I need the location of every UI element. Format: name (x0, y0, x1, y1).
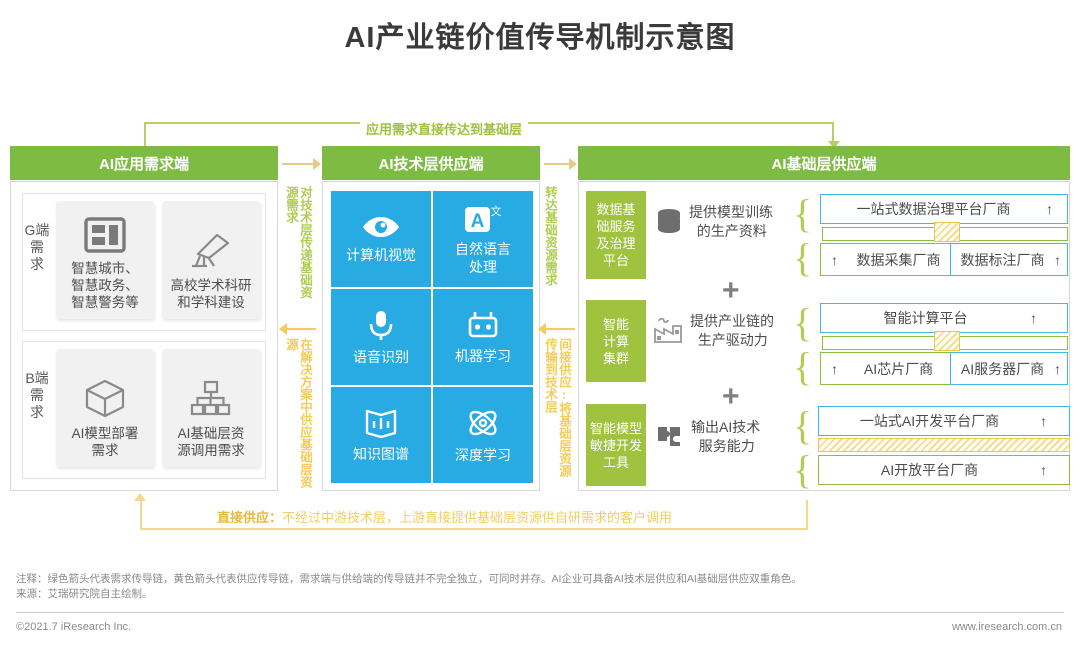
vendor-label: AI开放平台厂商 (819, 460, 1040, 480)
base-group-desc-text: 提供产业链的 生产驱动力 (690, 312, 774, 350)
vendor-box-data-governance-platform[interactable]: 一站式数据治理平台厂商 ↑ (820, 194, 1068, 224)
up-arrow-icon: ↑ (1054, 252, 1061, 268)
brace-icon: { (793, 303, 812, 343)
telescope-icon (187, 228, 235, 272)
top-flow-label: 应用需求直接传达到基础层 (360, 119, 528, 138)
header-tech-layer: AI技术层供应端 (322, 146, 540, 180)
plus-separator-2: + (722, 382, 740, 412)
footer-divider (16, 612, 1064, 613)
tech-card-caption: 深度学习 (455, 446, 511, 464)
connector-col2-bottom-label: 间接供应:将基础层资源传输到技术层 (543, 338, 571, 488)
up-arrow-icon: ↑ (1040, 413, 1047, 429)
connector-col1-arrow-icon (286, 328, 316, 330)
demand-group-b-tag: B端需求 (24, 370, 50, 421)
tech-card-deep-learning[interactable]: 深度学习 (433, 387, 533, 483)
tech-card-knowledge-graph[interactable]: 知识图谱 (331, 387, 431, 483)
demand-card-caption: AI模型部署需求 (72, 425, 139, 459)
vendor-label: AI芯片厂商 (838, 359, 959, 379)
overlap-hatch-3 (818, 438, 1070, 452)
brace-icon: { (793, 406, 812, 446)
tech-card-speech-recognition[interactable]: 语音识别 (331, 289, 431, 385)
tech-card-caption: 语音识别 (353, 348, 409, 366)
vendor-box-ai-open-platform[interactable]: AI开放平台厂商 ↑ (818, 455, 1070, 485)
demand-card-base-resource-call[interactable]: AI基础层资源调用需求 (162, 349, 260, 467)
vendor-box-intelligent-compute-platform[interactable]: 智能计算平台 ↑ (820, 303, 1068, 333)
footnote-line-2: 来源：艾瑞研究院自主绘制。 (16, 587, 1066, 602)
base-group-desc-3: 输出AI技术 服务能力 (655, 418, 760, 456)
vendor-box-ai-server[interactable]: AI服务器厂商 ↑ (950, 352, 1068, 385)
page-title: AI产业链价值传导机制示意图 (0, 14, 1080, 56)
overlap-hatch-2 (934, 331, 960, 351)
cube-icon (81, 376, 129, 420)
base-group-desc-text: 提供模型训练 的生产资料 (689, 203, 773, 241)
base-group-label-model-dev-tools: 智能模型敏捷开发工具 (586, 404, 646, 486)
vendor-label: 一站式数据治理平台厂商 (821, 199, 1046, 219)
footnote: 注释：绿色箭头代表需求传导链，黄色箭头代表供应传导链，需求端与供给端的传导链并不… (16, 572, 1066, 602)
database-icon (655, 207, 683, 237)
tech-card-caption: 自然语言处理 (455, 240, 511, 276)
vendor-label: 智能计算平台 (821, 308, 1030, 328)
connector-col2-top-label: 转达基础资源需求 (543, 186, 557, 306)
base-group-label-data-platform: 数据基础服务及治理平台 (586, 191, 646, 279)
up-arrow-icon: ↑ (1040, 462, 1047, 478)
up-arrow-icon: ↑ (1030, 310, 1037, 326)
bottom-flow-label-bold: 直接供应： (217, 510, 282, 525)
up-arrow-icon: ↑ (1046, 201, 1053, 217)
arrow-demand-to-tech-icon (282, 163, 314, 165)
eye-icon (361, 214, 401, 240)
overlap-hatch-1 (934, 222, 960, 242)
demand-card-caption: 智慧城市、智慧政务、智慧警务等 (71, 260, 139, 311)
infographic-page: AI产业链价值传导机制示意图 应用需求直接传达到基础层 AI应用需求端 AI技术… (0, 0, 1080, 651)
vendor-box-data-annotation[interactable]: 数据标注厂商 ↑ (950, 243, 1068, 276)
tech-card-caption: 机器学习 (455, 347, 511, 365)
brace-icon: { (793, 347, 812, 387)
vendor-label: AI服务器厂商 (951, 359, 1054, 379)
connector-col2-arrow-icon (545, 328, 575, 330)
connector-col1-bottom-label: 在解决方案中供应基础层资源 (284, 338, 312, 488)
hierarchy-icon (187, 376, 235, 420)
book-icon (363, 407, 399, 439)
vendor-label: 数据采集厂商 (838, 250, 959, 270)
header-base-layer: AI基础层供应端 (578, 146, 1070, 180)
tech-card-computer-vision[interactable]: 计算机视觉 (331, 191, 431, 287)
header-demand-side: AI应用需求端 (10, 146, 278, 180)
vendor-box-ai-chip[interactable]: ↑ AI芯片厂商 (820, 352, 960, 385)
demand-group-g-tag: G端需求 (24, 222, 50, 273)
arrow-tech-to-base-icon (544, 163, 570, 165)
tech-card-nlp[interactable]: A 文 自然语言处理 (433, 191, 533, 287)
brace-icon: { (793, 450, 812, 490)
demand-card-caption: AI基础层资源调用需求 (177, 425, 245, 459)
demand-card-model-deploy[interactable]: AI模型部署需求 (56, 349, 154, 467)
bottom-flow-label-rest: 不经过中游技术层，上游直接提供基础层资源供自研需求的客户调用 (282, 510, 672, 525)
connector-col1-top-label: 对技术层传递基础资源需求 (284, 186, 312, 306)
base-group-label-compute-cluster: 智能计算集群 (586, 300, 646, 382)
base-group-desc-2: 提供产业链的 生产驱动力 (652, 312, 774, 350)
brace-icon: { (793, 194, 812, 234)
plus-separator-1: + (722, 276, 740, 306)
up-arrow-icon: ↑ (831, 252, 838, 268)
brace-icon: { (793, 238, 812, 278)
vendor-label: 数据标注厂商 (951, 250, 1054, 270)
factory-icon (652, 316, 684, 346)
dashboard-icon (83, 215, 127, 255)
copyright-text: ©2021.7 iResearch Inc. (16, 621, 131, 633)
demand-card-smart-city[interactable]: 智慧城市、智慧政务、智慧警务等 (56, 201, 154, 319)
website-link[interactable]: www.iresearch.com.cn (952, 621, 1062, 633)
demand-card-caption: 高校学术科研和学科建设 (171, 277, 252, 311)
base-group-desc-text: 输出AI技术 服务能力 (691, 418, 760, 456)
footnote-line-1: 注释：绿色箭头代表需求传导链，黄色箭头代表供应传导链，需求端与供给端的传导链并不… (16, 572, 1066, 587)
vendor-label: 一站式AI开发平台厂商 (819, 411, 1040, 431)
atom-icon (465, 406, 501, 440)
bottom-flow-arrowhead-icon (134, 493, 146, 501)
svg-text:文: 文 (491, 204, 502, 218)
demand-card-academic-research[interactable]: 高校学术科研和学科建设 (162, 201, 260, 319)
tech-card-caption: 计算机视觉 (346, 246, 416, 264)
up-arrow-icon: ↑ (1054, 361, 1061, 377)
base-group-desc-1: 提供模型训练 的生产资料 (655, 203, 773, 241)
up-arrow-icon: ↑ (831, 361, 838, 377)
tech-card-machine-learning[interactable]: 机器学习 (433, 289, 533, 385)
svg-text:A: A (471, 211, 485, 232)
puzzle-icon (655, 423, 685, 451)
bottom-flow-label: 直接供应：不经过中游技术层，上游直接提供基础层资源供自研需求的客户调用 (212, 507, 677, 526)
tech-card-caption: 知识图谱 (353, 445, 409, 463)
robot-icon (464, 309, 502, 341)
vendor-box-data-collection[interactable]: ↑ 数据采集厂商 (820, 243, 960, 276)
translate-icon: A 文 (463, 202, 503, 234)
vendor-box-ai-dev-platform[interactable]: 一站式AI开发平台厂商 ↑ (818, 406, 1070, 436)
microphone-icon (365, 308, 397, 342)
